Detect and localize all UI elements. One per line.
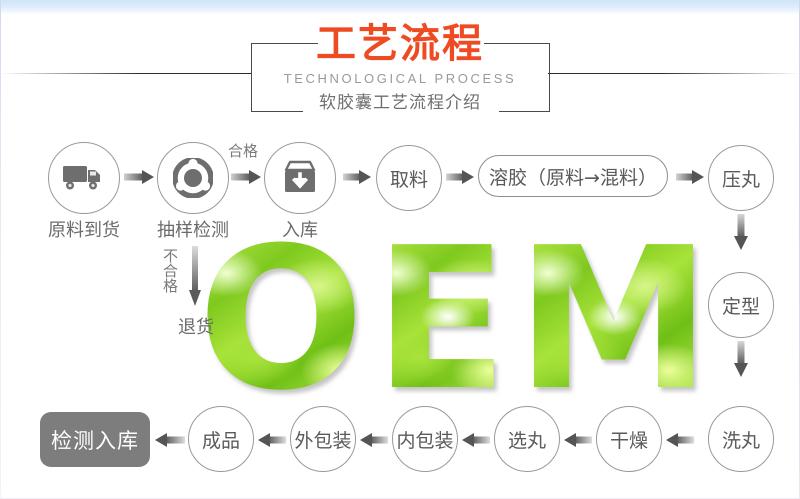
- arrow-left-6: [666, 431, 694, 449]
- inspection-icon: [173, 158, 213, 198]
- process-flow-infographic: 工艺流程 TECHNOLOGICAL PROCESS 软胶囊工艺流程介绍 O E…: [0, 0, 800, 499]
- inbox-arrow-down-icon: [281, 160, 319, 196]
- node-finished-product[interactable]: 成品: [188, 406, 254, 472]
- watermark-letter-m: M: [516, 236, 696, 404]
- node-sol-gel[interactable]: 溶胶（原料→混料）: [478, 155, 668, 197]
- arrow-left-1: [155, 431, 185, 449]
- node-inner-packaging[interactable]: 内包装: [392, 406, 458, 472]
- page-subtitle-chinese: 软胶囊工艺流程介绍: [0, 92, 800, 114]
- arrow-right-4: [446, 168, 474, 186]
- node-final-inspection-storage[interactable]: 检测入库: [40, 412, 150, 467]
- page-title: 工艺流程: [0, 22, 800, 66]
- node-drying[interactable]: 干燥: [596, 406, 662, 472]
- arrow-left-5: [564, 431, 592, 449]
- arrow-left-4: [462, 431, 490, 449]
- top-blue-band: [0, 0, 800, 14]
- label-fail: 不合格: [160, 248, 181, 293]
- watermark-letter-e: E: [371, 236, 511, 404]
- truck-icon: [63, 163, 105, 193]
- arrow-right-5: [676, 168, 704, 186]
- caption-return-goods: 退货: [153, 313, 239, 339]
- node-outer-packaging[interactable]: 外包装: [290, 406, 356, 472]
- node-take-material[interactable]: 取料: [376, 145, 442, 211]
- header: 工艺流程 TECHNOLOGICAL PROCESS 软胶囊工艺流程介绍: [0, 16, 800, 120]
- label-pass: 合格: [228, 140, 258, 161]
- caption-raw-material-arrival: 原料到货: [28, 216, 140, 242]
- arrow-right-1: [124, 168, 154, 186]
- node-washing-pill[interactable]: 洗丸: [708, 406, 774, 472]
- arrow-down-1: [731, 214, 751, 250]
- arrow-down-reject: [185, 246, 205, 306]
- arrow-right-2: [231, 168, 261, 186]
- oem-watermark: O E M: [196, 236, 696, 404]
- arrow-right-3: [343, 168, 371, 186]
- arrow-left-2: [258, 431, 286, 449]
- caption-sampling-inspection: 抽样检测: [137, 216, 249, 242]
- node-select-pill[interactable]: 选丸: [494, 406, 560, 472]
- node-press-pill[interactable]: 压丸: [708, 145, 774, 211]
- page-subtitle-english: TECHNOLOGICAL PROCESS: [0, 70, 800, 87]
- arrow-left-3: [360, 431, 388, 449]
- node-shaping[interactable]: 定型: [708, 272, 774, 338]
- arrow-down-2: [731, 341, 751, 377]
- caption-warehouse-in: 入库: [254, 216, 346, 242]
